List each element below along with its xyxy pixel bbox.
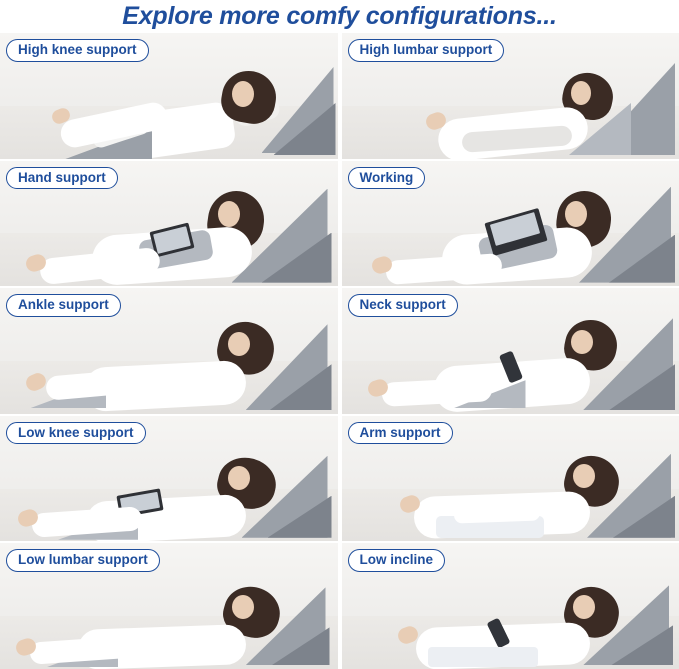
arm (453, 504, 540, 523)
face (571, 330, 593, 354)
configuration-cell-low-lumbar-support: Low lumbar support (0, 543, 338, 669)
cell-label: Arm support (348, 422, 453, 445)
face (571, 81, 591, 105)
face (218, 201, 240, 227)
page-title: Explore more comfy configurations... (0, 0, 679, 33)
cell-label: Low knee support (6, 422, 146, 445)
cell-label: High knee support (6, 39, 149, 62)
configuration-cell-hand-support: Hand support (0, 161, 338, 287)
configuration-cell-working: Working (342, 161, 679, 287)
cell-label: Ankle support (6, 294, 121, 317)
face (228, 466, 250, 490)
cell-label: Working (348, 167, 426, 190)
configuration-cell-low-knee-support: Low knee support (0, 416, 338, 542)
configuration-cell-low-incline: Low incline (342, 543, 679, 669)
cell-label: Hand support (6, 167, 118, 190)
configuration-cell-high-lumbar-support: High lumbar support (342, 33, 679, 159)
face (232, 81, 254, 107)
configuration-cell-arm-support: Arm support (342, 416, 679, 542)
configuration-cell-neck-support: Neck support (342, 288, 679, 414)
face (573, 464, 595, 488)
cell-label: Low lumbar support (6, 549, 160, 572)
cell-label: Neck support (348, 294, 458, 317)
configuration-cell-ankle-support: Ankle support (0, 288, 338, 414)
face (565, 201, 587, 227)
configuration-grid: High knee support High lumbar support (0, 33, 679, 669)
cell-label: Low incline (348, 549, 446, 572)
product-configurations-image: Explore more comfy configurations... Hig… (0, 0, 679, 669)
cell-label: High lumbar support (348, 39, 505, 62)
face (232, 595, 254, 619)
low-incline-wedge (428, 647, 538, 667)
configuration-cell-high-knee-support: High knee support (0, 33, 338, 159)
face (228, 332, 250, 356)
